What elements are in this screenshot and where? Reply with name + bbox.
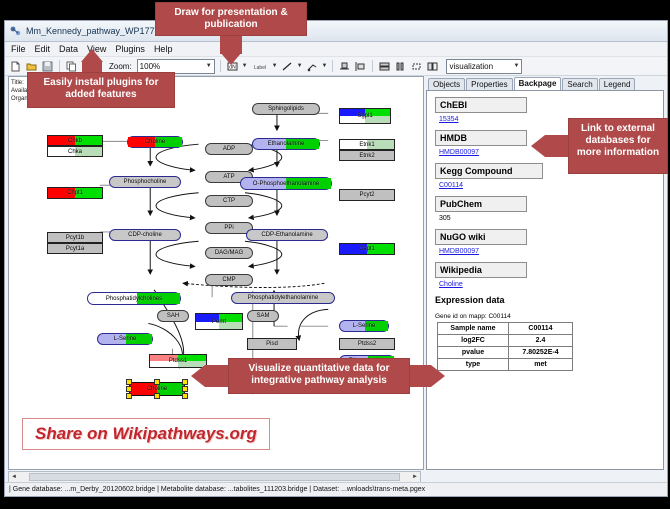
node-label: ADP [223,146,235,152]
gene-sgpl1[interactable]: Sgpl1 [339,108,391,124]
callout-draw-text: Draw for presentation & publication [174,7,287,30]
gene-pisd[interactable]: Pisd [247,338,297,350]
resize-handle[interactable] [182,393,188,399]
toolbar-separator [59,60,60,72]
gene-id-on-mapp: Gene id on mapp: C00114 [435,313,655,320]
expr-value: 7.80252E-4 [509,347,573,359]
gene-etnk1[interactable]: Etnk1 [339,139,395,150]
tab-properties[interactable]: Properties [466,78,512,90]
node-sphingolipids[interactable]: Sphingolipids [252,103,320,115]
label-icon[interactable]: Label [251,60,269,73]
db-header-kegg-compound: Kegg Compound [435,163,543,179]
node-label: L-Serine [114,336,137,342]
chevron-down-icon[interactable]: ▼ [272,63,278,69]
db-header-wikipedia: Wikipedia [435,262,527,278]
table-row: Sample name C00114 [438,323,573,335]
node-label: Pisd [266,341,278,347]
callout-visualize-arrow-icon [191,365,205,387]
node-label: Phosphatidylcholines [106,296,162,302]
align-icon[interactable] [338,60,351,73]
open-icon[interactable] [25,60,38,73]
db-header-nugo-wiki: NuGO wiki [435,229,527,245]
pathway-canvas[interactable]: Title: Availa Organ [8,76,424,470]
gene-chka[interactable]: Chka [47,146,103,157]
chevron-down-icon[interactable]: ▼ [242,63,248,69]
pathway-organism-label: Organ [11,95,28,103]
resize-handle[interactable] [126,379,132,385]
pathway-title-label: Title: [11,79,28,87]
chevron-down-icon[interactable]: ▼ [297,63,303,69]
gene-pcyt1a[interactable]: Pcyt1a [47,243,103,254]
node-label: Chka [68,149,82,155]
callout-links: Link to external databases for more info… [568,118,668,174]
distribute-icon[interactable] [354,60,367,73]
resize-handle[interactable] [182,386,188,392]
node-label: Phosphatidylethanolamine [248,295,318,301]
db-value-pubchem: 305 [439,215,655,222]
db-header-hmdb: HMDB [435,130,527,146]
menu-help[interactable]: Help [154,44,173,54]
callout-draw: Draw for presentation & publication [155,2,307,36]
db-link-wikipedia[interactable]: Choline [439,281,655,288]
resize-handle[interactable] [154,393,160,399]
gene-pemt[interactable]: Pemt [195,313,243,330]
gene-chpt1[interactable]: Chpt1 [47,187,103,199]
line-icon[interactable] [281,60,294,73]
node-sah[interactable]: SAH [157,310,189,322]
expr-value: C00114 [509,323,573,335]
node-cdp-choline[interactable]: CDP-choline [109,229,181,241]
pathvisio-icon [9,25,21,37]
node-label: O-Phosphoethanolamine [253,181,319,187]
scroll-right-icon[interactable]: ► [410,474,420,480]
scrollbar-thumb[interactable] [29,473,400,481]
node-label: SAM [256,313,269,319]
node-label: Pcyt2 [359,192,374,198]
node-cmp[interactable]: CMP [205,274,253,286]
resize-handle[interactable] [126,386,132,392]
tab-legend[interactable]: Legend [599,78,636,90]
node-label: Ptdss2 [358,341,376,347]
menu-data[interactable]: Data [59,44,78,54]
arrow-icon[interactable] [306,60,319,73]
title-bar: Mm_Kennedy_pathway_WP1771_45176.gpml [5,21,667,42]
zoom-value: 100% [140,62,160,71]
callout-plugins-text: Easily install plugins for added feature… [43,77,158,100]
node-label: Ethanolamine [268,141,305,147]
chevron-down-icon: ▼ [206,63,212,69]
chevron-down-icon: ▼ [514,63,520,69]
chevron-down-icon[interactable]: ▼ [322,63,328,69]
expr-value: met [509,359,573,371]
callout-plugins-arrow-icon [81,49,103,62]
svg-text:Label: Label [254,65,266,71]
status-text: | Gene database: ...m_Derby_20120602.bri… [9,486,425,493]
visualization-value: visualization [449,62,493,71]
pathway-meta: Title: Availa Organ [11,79,28,103]
node-ctp[interactable]: CTP [205,195,253,207]
resize-handle[interactable] [154,379,160,385]
node-label: DAG/MAG [215,250,243,256]
node-label: Pemt [212,319,226,325]
side-pane-tabs: Objects Properties Backpage Search Legen… [426,76,664,90]
group-icon[interactable] [410,60,423,73]
node-label: PPi [224,225,233,231]
layer-icon[interactable] [426,60,439,73]
callout-share-text: Share on Wikipathways.org [35,424,257,443]
callout-visualize-stem-right [409,365,431,387]
expr-key: type [438,359,509,371]
gene-ptdss2[interactable]: Ptdss2 [339,338,395,350]
table-row: log2FC 2.4 [438,335,573,347]
node-phosphatidylethanolamine[interactable]: Phosphatidylethanolamine [231,292,335,304]
tab-search[interactable]: Search [562,78,597,90]
node-label: Pcyt1a [66,246,84,252]
node-ethanolamine[interactable]: Ethanolamine [252,138,320,150]
callout-links-text: Link to external databases for more info… [577,123,659,158]
node-choline-top[interactable]: Choline [127,136,183,148]
node-label: CTP [223,198,235,204]
node-label: Etnk2 [359,153,374,159]
gene-chkb[interactable]: Chkb [47,135,103,146]
callout-visualize-arrow-right-icon [431,365,445,387]
menu-file[interactable]: File [11,44,26,54]
zoom-label: Zoom: [109,62,132,71]
node-label: CDP-Ethanolamine [261,232,312,238]
callout-visualize-text: Visualize quantitative data for integrat… [249,363,390,386]
node-label: Ptdss1 [169,358,187,364]
node-l-serine-right[interactable]: L-Serine [339,320,389,332]
canvas-surface[interactable]: Title: Availa Organ [9,77,423,469]
node-label: Choline [145,139,165,145]
node-label: Cept1 [359,246,375,252]
db-link-nugo-wiki[interactable]: HMDB00097 [439,248,655,255]
menu-plugins[interactable]: Plugins [115,44,145,54]
expr-key: Sample name [438,323,509,335]
node-label: Chpt1 [67,190,83,196]
tab-objects[interactable]: Objects [428,78,465,90]
new-icon[interactable] [9,60,22,73]
callout-links-arrow-icon [531,135,545,157]
expr-key: log2FC [438,335,509,347]
table-row: type met [438,359,573,371]
callout-plugins: Easily install plugins for added feature… [27,72,175,108]
expr-value: 2.4 [509,335,573,347]
scroll-left-icon[interactable]: ◄ [9,474,19,480]
stack-icon[interactable] [378,60,391,73]
node-sam[interactable]: SAM [247,310,279,322]
node-label: Sgpl1 [357,113,372,119]
node-cdp-ethanolamine[interactable]: CDP-Ethanolamine [246,229,328,241]
callout-share: Share on Wikipathways.org [22,418,270,450]
node-dag-mag[interactable]: DAG/MAG [205,247,253,259]
screen: Mm_Kennedy_pathway_WP1771_45176.gpml Fil… [0,0,670,509]
expression-table: Sample name C00114 log2FC 2.4 pvalue 7.8… [437,322,573,371]
save-icon[interactable] [41,60,54,73]
gene-pcyt2[interactable]: Pcyt2 [339,189,395,201]
expression-data-heading: Expression data [435,295,655,305]
node-label: Pcyt1b [66,235,84,241]
node-label: Phosphocholine [124,179,167,185]
node-phosphocholine[interactable]: Phosphocholine [109,176,181,188]
node-adp[interactable]: ADP [205,143,253,155]
pathway-availability-label: Availa [11,87,28,95]
db-header-chebi: ChEBI [435,97,527,113]
resize-handle[interactable] [126,393,132,399]
status-bar: | Gene database: ...m_Derby_20120602.bri… [5,482,667,496]
table-row: pvalue 7.80252E-4 [438,347,573,359]
toolbar-separator [372,60,373,72]
callout-visualize-stem [205,365,229,387]
node-label: L-Serine [353,323,376,329]
tab-backpage[interactable]: Backpage [514,77,562,90]
expr-key: pvalue [438,347,509,359]
node-label: CMP [222,277,235,283]
visualization-combobox[interactable]: visualization ▼ [446,59,522,74]
callout-visualize: Visualize quantitative data for integrat… [228,358,410,394]
gene-pcyt1b[interactable]: Pcyt1b [47,232,103,243]
node-phosphatidylcholines[interactable]: Phosphatidylcholines [87,292,181,305]
copy-icon[interactable] [65,60,78,73]
gene-etnk2[interactable]: Etnk2 [339,150,395,161]
node-o-phosphoethanolamine[interactable]: O-Phosphoethanolamine [240,177,332,190]
node-label: CDP-choline [128,232,162,238]
node-l-serine-left[interactable]: L-Serine [97,333,153,345]
node-label: Choline [147,386,167,392]
size-icon[interactable] [394,60,407,73]
resize-handle[interactable] [182,379,188,385]
menu-edit[interactable]: Edit [35,44,51,54]
node-label: Etnk1 [359,142,374,148]
menu-bar: File Edit Data View Plugins Help [5,42,667,57]
callout-draw-arrow-icon [220,52,242,65]
db-header-pubchem: PubChem [435,196,527,212]
db-link-kegg-compound[interactable]: C00114 [439,182,655,189]
node-label: ATP [223,174,234,180]
callout-links-stem [545,135,569,157]
node-label: SAH [167,313,179,319]
node-label: Chkb [68,138,82,144]
toolbar-separator [332,60,333,72]
gene-cept1[interactable]: Cept1 [339,243,395,255]
node-label: Sphingolipids [268,106,304,112]
